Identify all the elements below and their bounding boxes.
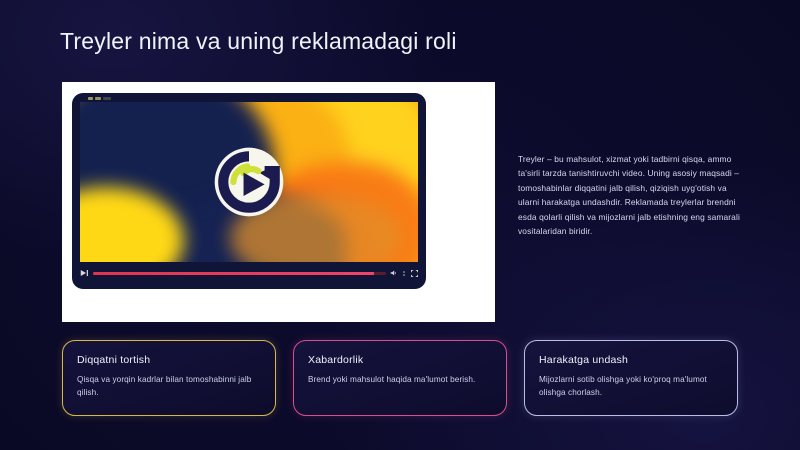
card-body: Mijozlarni sotib olishga yoki ko'proq ma… xyxy=(539,373,723,400)
player-controls[interactable] xyxy=(80,267,418,279)
volume-icon[interactable] xyxy=(390,269,397,277)
play-icon[interactable] xyxy=(80,269,89,277)
card-title: Harakatga undash xyxy=(539,354,723,366)
feature-cards: Diqqatni tortish Qisqa va yorqin kadrlar… xyxy=(62,340,738,418)
circular-play-logo xyxy=(210,143,288,221)
video-player-mockup[interactable] xyxy=(72,93,426,289)
feature-card-awareness[interactable]: Xabardorlik Brend yoki mahsulot haqida m… xyxy=(293,340,507,416)
progress-bar[interactable] xyxy=(93,272,386,275)
feature-card-call-to-action[interactable]: Harakatga undash Mijozlarni sotib olishg… xyxy=(524,340,738,416)
card-body: Brend yoki mahsulot haqida ma'lumot beri… xyxy=(308,373,492,386)
card-body: Qisqa va yorqin kadrlar bilan tomoshabin… xyxy=(77,373,261,400)
lede-paragraph: Treyler – bu mahsulot, xizmat yoki tadbi… xyxy=(518,152,746,239)
progress-fill xyxy=(93,272,374,275)
player-bezel-dots xyxy=(88,97,111,100)
media-panel xyxy=(62,82,495,322)
page-title: Treyler nima va uning reklamadagi roli xyxy=(60,28,457,55)
settings-icon[interactable] xyxy=(401,270,407,277)
fullscreen-icon[interactable] xyxy=(411,270,418,277)
video-screen[interactable] xyxy=(80,102,418,262)
feature-card-attention[interactable]: Diqqatni tortish Qisqa va yorqin kadrlar… xyxy=(62,340,276,416)
slide-root: Treyler nima va uning reklamadagi roli xyxy=(0,0,800,450)
card-title: Diqqatni tortish xyxy=(77,354,261,366)
card-title: Xabardorlik xyxy=(308,354,492,366)
